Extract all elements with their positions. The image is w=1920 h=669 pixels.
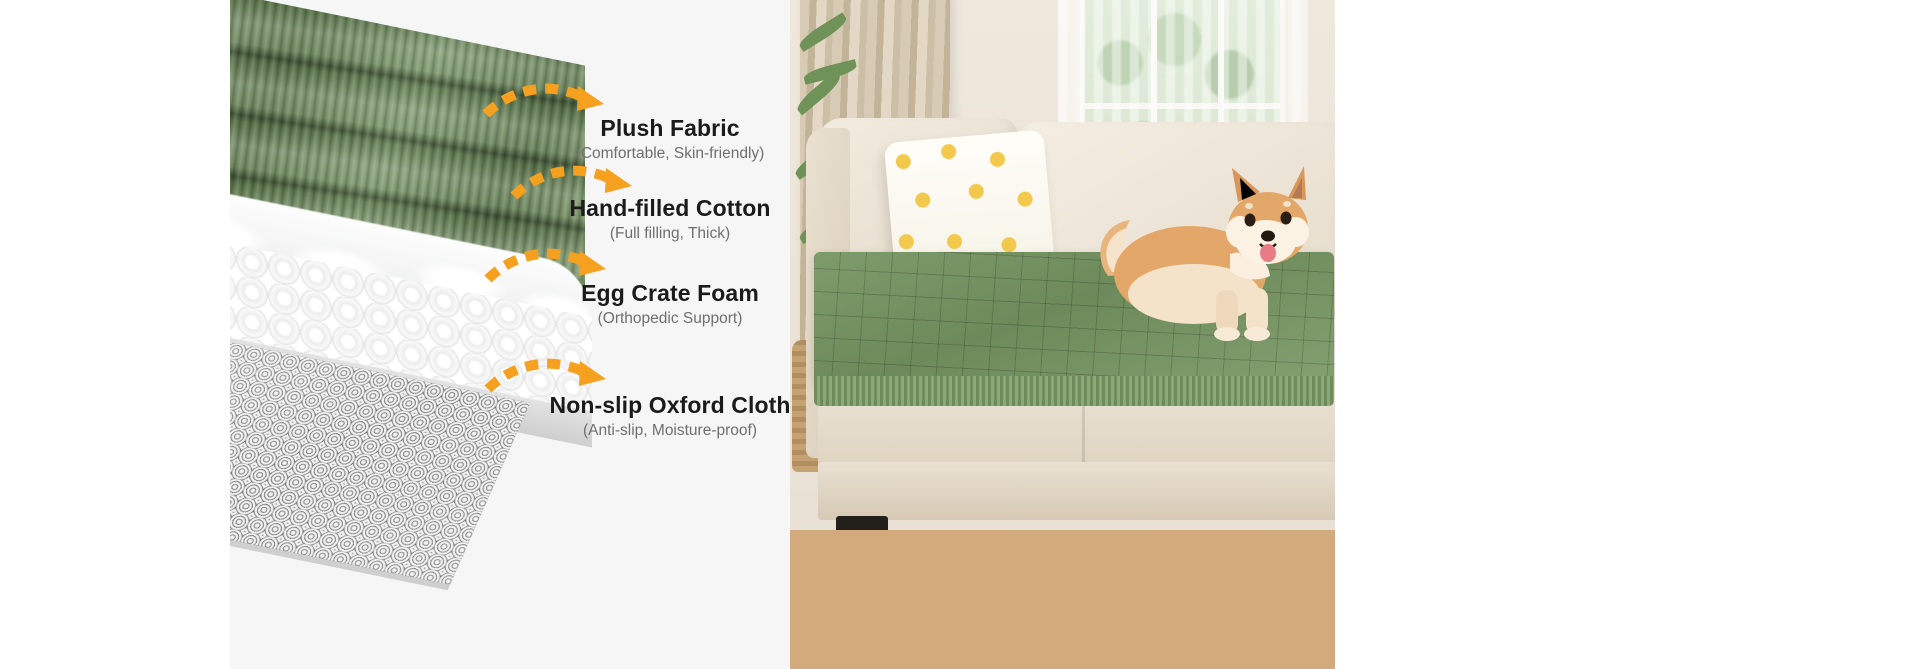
label-subtitle-egg-crate-foam: (Orthopedic Support) — [460, 310, 790, 327]
label-title-non-slip-oxford-cloth: Non-slip Oxford Cloth — [460, 393, 790, 418]
label-title-egg-crate-foam: Egg Crate Foam — [460, 281, 790, 306]
label-subtitle-hand-filled-cotton: (Full filling, Thick) — [460, 225, 790, 242]
herringbone-wood-floor — [790, 530, 1335, 669]
label-title-hand-filled-cotton: Hand-filled Cotton — [460, 196, 790, 221]
pet-mat-fringe-edge — [814, 376, 1334, 406]
sofa-skirt — [818, 462, 1335, 520]
shiba-inu-dog — [1090, 158, 1320, 348]
label-subtitle-plush-fabric: (Comfortable, Skin-friendly) — [460, 145, 790, 162]
label-block-plush-fabric: Plush Fabric (Comfortable, Skin-friendly… — [460, 116, 790, 162]
label-block-egg-crate-foam: Egg Crate Foam (Orthopedic Support) — [460, 281, 790, 327]
label-block-hand-filled-cotton: Hand-filled Cotton (Full filling, Thick) — [460, 196, 790, 242]
lifestyle-photo-panel — [790, 0, 1335, 669]
label-subtitle-non-slip-oxford-cloth: (Anti-slip, Moisture-proof) — [460, 422, 790, 439]
material-layers-panel: Plush Fabric (Comfortable, Skin-friendly… — [230, 0, 790, 669]
label-block-non-slip-oxford-cloth: Non-slip Oxford Cloth (Anti-slip, Moistu… — [460, 393, 790, 439]
infographic-canvas: Plush Fabric (Comfortable, Skin-friendly… — [0, 0, 1920, 669]
label-title-plush-fabric: Plush Fabric — [460, 116, 790, 141]
